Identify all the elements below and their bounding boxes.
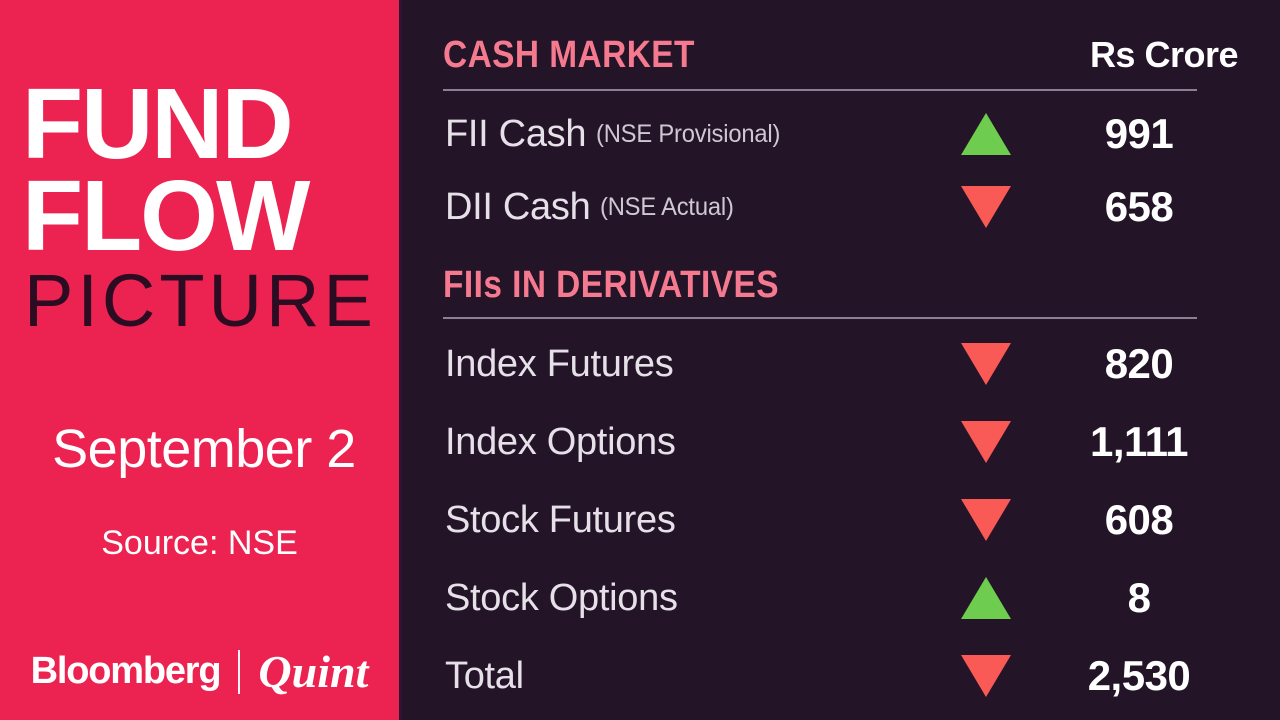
table-row: Stock Futures 608	[443, 490, 1238, 550]
row-label-main: FII Cash	[445, 113, 586, 156]
logo-bloomberg-text: Bloomberg	[31, 650, 221, 693]
table-row: Index Options 1,111	[443, 412, 1238, 472]
row-label-total: Total	[445, 646, 524, 706]
section-cash-market: CASH MARKET Rs Crore FII Cash (NSE Provi…	[443, 34, 1238, 90]
date-label: September 2	[0, 418, 399, 480]
row-label-index-futures: Index Futures	[445, 334, 673, 394]
row-label-stock-options: Stock Options	[445, 568, 678, 628]
section-fiis-in-derivatives-title: FIIs IN DERIVATIVES	[443, 264, 779, 307]
title-line-flow: FLOW	[22, 170, 399, 262]
section-cash-market-header: CASH MARKET Rs Crore	[443, 34, 1238, 90]
triangle-down-icon	[951, 334, 1021, 394]
table-row: FII Cash (NSE Provisional) 991	[443, 104, 1238, 164]
row-label-dii-cash: DII Cash (NSE Actual)	[445, 177, 741, 237]
table-row: Total 2,530	[443, 646, 1238, 706]
section-cash-market-rule	[443, 89, 1197, 91]
section-fiis-in-derivatives-rule	[443, 317, 1197, 319]
row-label-main: Total	[445, 655, 524, 698]
section-fiis-in-derivatives-header: FIIs IN DERIVATIVES	[443, 264, 1238, 320]
data-panel: CASH MARKET Rs Crore FII Cash (NSE Provi…	[402, 0, 1280, 720]
unit-label: Rs Crore	[1090, 34, 1238, 76]
row-label-fii-cash: FII Cash (NSE Provisional)	[445, 104, 790, 164]
triangle-down-icon	[951, 646, 1021, 706]
fund-flow-infographic: FUND FLOW PICTURE September 2 Source: NS…	[0, 0, 1280, 720]
table-row: DII Cash (NSE Actual) 658	[443, 177, 1238, 237]
row-value-index-options: 1,111	[1041, 412, 1237, 472]
logo-quint-text: Quint	[258, 645, 368, 698]
section-cash-market-title: CASH MARKET	[443, 34, 695, 77]
row-value-stock-options: 8	[1041, 568, 1237, 628]
triangle-up-icon	[951, 104, 1021, 164]
row-label-note: (NSE Provisional)	[596, 120, 780, 149]
row-value-index-futures: 820	[1041, 334, 1237, 394]
infographic-title: FUND FLOW PICTURE	[22, 78, 399, 338]
section-fiis-in-derivatives: FIIs IN DERIVATIVES Index Futures 820 In…	[443, 264, 1238, 320]
logo-divider	[238, 650, 240, 694]
row-value-fii-cash: 991	[1041, 104, 1237, 164]
row-value-total: 2,530	[1041, 646, 1237, 706]
row-label-main: Stock Futures	[445, 499, 676, 542]
row-label-note: (NSE Actual)	[600, 193, 734, 222]
source-label: Source: NSE	[0, 524, 399, 563]
table-row: Index Futures 820	[443, 334, 1238, 394]
row-label-main: Index Options	[445, 421, 676, 464]
row-value-dii-cash: 658	[1041, 177, 1237, 237]
bloombergquint-logo: Bloomberg Quint	[0, 645, 399, 698]
triangle-down-icon	[951, 490, 1021, 550]
title-line-fund: FUND	[22, 78, 399, 170]
row-label-stock-futures: Stock Futures	[445, 490, 676, 550]
table-row: Stock Options 8	[443, 568, 1238, 628]
row-label-main: Stock Options	[445, 577, 678, 620]
row-value-stock-futures: 608	[1041, 490, 1237, 550]
row-label-main: DII Cash	[445, 186, 590, 229]
row-label-main: Index Futures	[445, 343, 673, 386]
triangle-down-icon	[951, 412, 1021, 472]
branding-panel: FUND FLOW PICTURE September 2 Source: NS…	[0, 0, 399, 720]
triangle-up-icon	[951, 568, 1021, 628]
triangle-down-icon	[951, 177, 1021, 237]
title-line-picture: PICTURE	[24, 264, 399, 338]
row-label-index-options: Index Options	[445, 412, 676, 472]
